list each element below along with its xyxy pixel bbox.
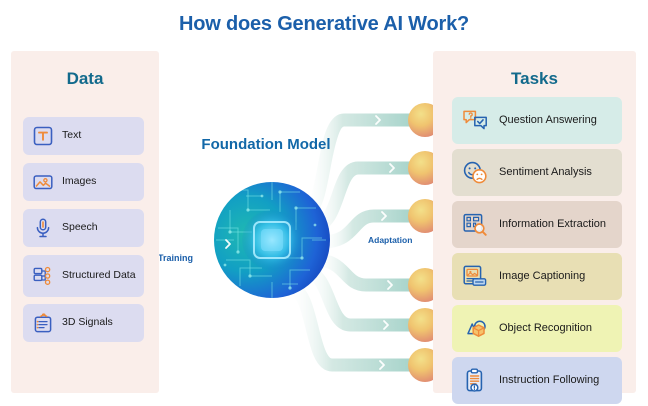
task-item-image-captioning[interactable]: Image Captioning [452, 253, 622, 300]
task-item-label: Instruction Following [499, 374, 599, 388]
data-panel-heading: Data [11, 69, 159, 89]
task-item-instruction-following[interactable]: Instruction Following [452, 357, 622, 404]
microphone-icon [30, 215, 56, 241]
data-item-label: Structured Data [62, 270, 136, 282]
image-captioning-icon [460, 262, 490, 292]
data-item-3d-signals[interactable]: 3D Signals [23, 304, 144, 342]
adaptation-label: Adaptation [368, 235, 412, 245]
data-item-speech[interactable]: Speech [23, 209, 144, 247]
data-panel: Data Text Images [11, 51, 159, 393]
task-item-information-extraction[interactable]: Information Extraction [452, 201, 622, 248]
text-icon [30, 123, 56, 149]
tasks-panel-heading: Tasks [433, 69, 636, 89]
question-answering-icon [460, 106, 490, 136]
data-item-structured-data[interactable]: Structured Data [23, 255, 144, 297]
image-icon [30, 169, 56, 195]
task-item-question-answering[interactable]: Question Answering [452, 97, 622, 144]
page-title: How does Generative AI Work? [0, 13, 648, 36]
task-item-label: Sentiment Analysis [499, 166, 592, 180]
structured-data-icon [30, 263, 56, 289]
task-item-label: Information Extraction [499, 218, 606, 232]
foundation-model-label: Foundation Model [196, 136, 336, 153]
tasks-panel: Tasks Question Answering [433, 51, 636, 393]
training-label: Training [158, 253, 193, 263]
data-item-label: Text [62, 130, 81, 142]
task-item-sentiment-analysis[interactable]: Sentiment Analysis [452, 149, 622, 196]
task-item-object-recognition[interactable]: Object Recognition [452, 305, 622, 352]
task-item-label: Question Answering [499, 114, 597, 128]
object-recognition-icon [460, 314, 490, 344]
data-item-text[interactable]: Text [23, 117, 144, 155]
data-item-images[interactable]: Images [23, 163, 144, 201]
instruction-following-icon [460, 366, 490, 396]
foundation-model-sphere [214, 182, 330, 301]
foundation-model-diagram [130, 60, 440, 390]
infographic-canvas: How does Generative AI Work? [0, 0, 648, 406]
data-item-label: Speech [62, 222, 98, 234]
signals-icon [30, 310, 56, 336]
information-extraction-icon [460, 210, 490, 240]
sentiment-analysis-icon [460, 158, 490, 188]
task-item-label: Object Recognition [499, 322, 592, 336]
data-item-label: Images [62, 176, 96, 188]
data-item-label: 3D Signals [62, 317, 113, 329]
task-item-label: Image Captioning [499, 270, 585, 284]
